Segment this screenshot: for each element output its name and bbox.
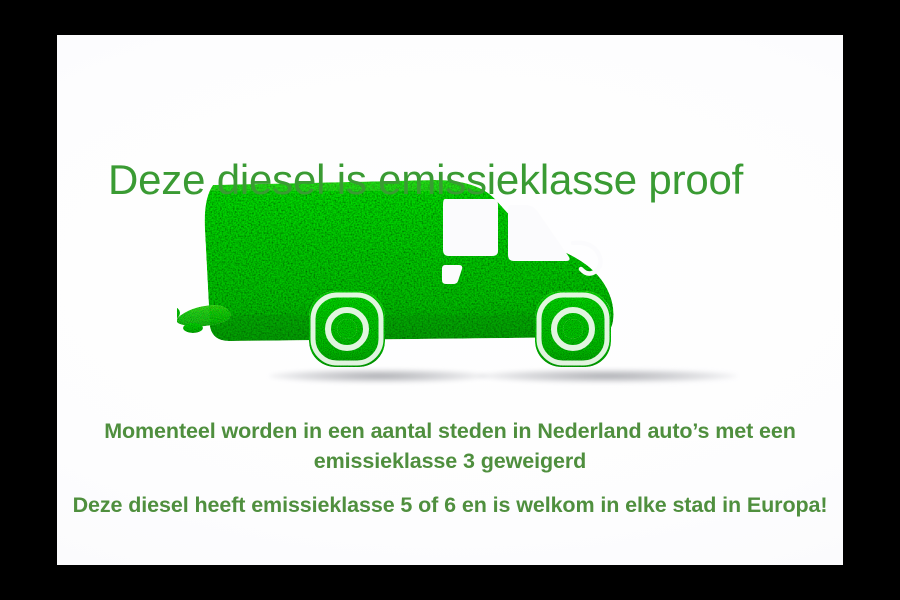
windshield [508, 205, 570, 261]
door-window [443, 199, 498, 256]
rear-wheel [309, 291, 385, 367]
poster-canvas: Deze diesel is emissieklasse proof Momen… [57, 35, 843, 565]
van-illustration [57, 35, 843, 565]
body-paragraph-1: Momenteel worden in een aantal steden in… [57, 416, 843, 476]
screenshot-frame: Deze diesel is emissieklasse proof Momen… [0, 0, 900, 600]
front-wheel [535, 291, 611, 367]
page-title: Deze diesel is emissieklasse proof [108, 158, 808, 202]
body-paragraph-2: Deze diesel heeft emissieklasse 5 of 6 e… [57, 490, 843, 520]
